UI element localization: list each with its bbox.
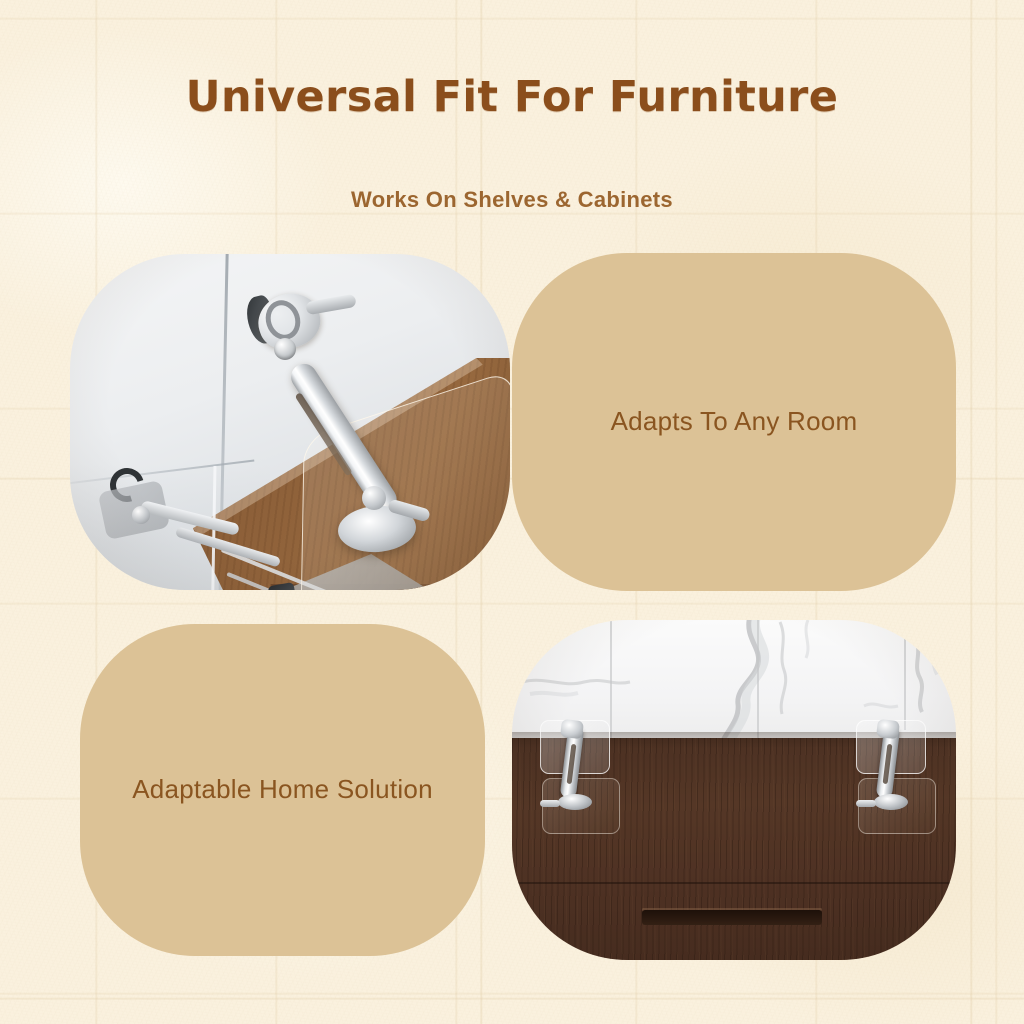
marble-tile-seam (904, 620, 906, 730)
bracket-head-right (876, 719, 900, 740)
adapts-to-any-room-label: Adapts To Any Room (577, 404, 892, 440)
marble-wall-scene (512, 620, 956, 960)
wall-mount-scene (70, 254, 510, 590)
secondary-bracket-screw (132, 506, 150, 524)
wall-mounted-bracket-photo (70, 254, 510, 590)
page-subtitle: Works On Shelves & Cabinets (0, 187, 1024, 213)
cabinet-drawer-handle (642, 910, 822, 925)
product-feature-infographic: Universal Fit For Furniture Works On She… (0, 0, 1024, 1024)
adaptable-home-solution-card: Adaptable Home Solution (80, 624, 485, 956)
bracket-base-left (558, 794, 592, 810)
bracket-head-left (560, 719, 584, 740)
marble-wall-cabinet-photo (512, 620, 956, 960)
cabinet-drawer-seam (512, 882, 956, 884)
bracket-base-knob (362, 486, 386, 510)
bracket-base-right (874, 794, 908, 810)
adapts-to-any-room-card: Adapts To Any Room (512, 253, 956, 591)
marble-tile-seam (757, 620, 759, 742)
bracket-pin-right (856, 800, 876, 807)
bracket-pin-left (540, 800, 560, 807)
adaptable-home-solution-label: Adaptable Home Solution (98, 772, 467, 808)
bracket-screw-top (274, 338, 296, 360)
marble-tile-seam (610, 620, 612, 742)
page-title: Universal Fit For Furniture (0, 72, 1024, 122)
